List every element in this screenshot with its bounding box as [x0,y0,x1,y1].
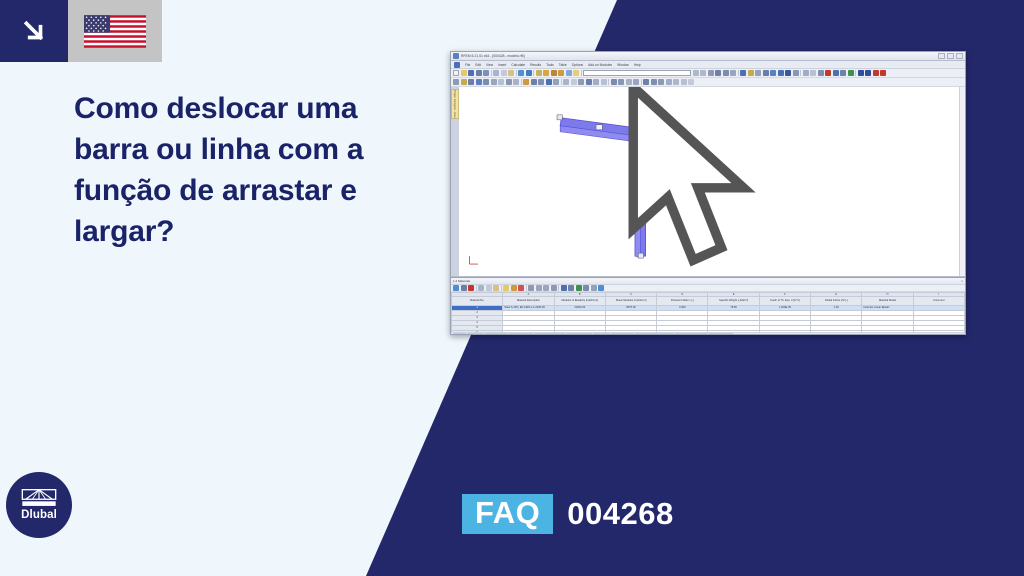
arrow-badge [0,0,68,62]
toolbar-separator [558,285,559,291]
check-icon[interactable] [848,70,854,76]
header-poisson[interactable]: Poisson's Ratio ν [-] [657,296,708,305]
window-titlebar: RFEM 5.21.01 x64 - [000428 - modelo.rf5] [451,52,965,61]
save-icon[interactable] [468,70,474,76]
export-icon[interactable] [576,285,582,291]
work-area: Project Navigator - Data [451,87,965,277]
view-side-icon[interactable] [643,79,649,85]
tab-sets-of-members[interactable]: Sets of Members [708,333,733,335]
dlubal-logo-text: Dlubal [21,510,57,522]
tab-member-nonlinearities[interactable]: Member Nonlinearities [675,333,707,335]
materials-table: A B C D E F G H I Material No. Mat [451,292,965,333]
load-case-combo[interactable] [583,70,691,76]
view-iso-icon[interactable] [658,79,664,85]
navigator-strip: Project Navigator - Data [451,87,459,276]
toolbar-separator [491,70,492,76]
toolbar-separator [641,79,642,85]
import-icon[interactable] [511,285,517,291]
dlubal-logo: Dlubal [6,472,72,538]
app-icon [453,53,459,59]
paste-icon[interactable] [508,70,514,76]
edit-row-icon[interactable] [461,285,467,291]
print-icon[interactable] [583,285,589,291]
copy-icon[interactable] [486,285,492,291]
rfem-application-window: RFEM 5.21.01 x64 - [000428 - modelo.rf5]… [450,51,966,335]
shaded-icon[interactable] [673,79,679,85]
us-flag-icon [84,15,146,48]
redo-icon[interactable] [526,70,532,76]
layer-icon[interactable] [601,79,607,85]
menu-options[interactable]: Options [572,63,583,67]
tab-cross-sections[interactable]: Cross-Sections [484,333,507,335]
model-canvas[interactable] [459,87,965,276]
extrude-icon[interactable] [578,79,584,85]
new-solid-icon[interactable] [491,79,497,85]
page-title: Como deslocar uma barra ou linha com a f… [74,88,414,252]
language-flag-badge [68,0,162,62]
toolbar-separator [738,70,739,76]
toolbar-separator [516,70,517,76]
open-icon[interactable] [461,70,467,76]
text-icon[interactable] [833,70,839,76]
toolbar-separator [521,79,522,85]
tab-member-hinges[interactable]: Member Hinges [509,333,533,335]
array-icon[interactable] [586,79,592,85]
new-opening-icon[interactable] [498,79,504,85]
load-icon[interactable] [840,70,846,76]
prev-icon[interactable] [536,285,542,291]
tab-nodes[interactable]: Nodes [453,333,466,335]
menu-window[interactable]: Window [617,63,629,67]
toolbar-separator [533,70,534,76]
line-icon[interactable] [763,70,769,76]
support-icon[interactable] [793,70,799,76]
results-icon[interactable] [551,70,557,76]
solid-icon[interactable] [785,70,791,76]
undo-icon[interactable] [518,70,524,76]
truss-icon [20,488,58,508]
arrow-down-right-icon [21,18,47,44]
new-load-icon[interactable] [523,79,529,85]
group-icon[interactable] [593,79,599,85]
member-icon[interactable] [770,70,776,76]
result-diagram-icon[interactable] [858,70,864,76]
new-row-icon[interactable] [453,285,459,291]
deformation-icon[interactable] [873,70,879,76]
transparent-icon[interactable] [681,79,687,85]
dimension-icon[interactable] [818,70,824,76]
close-button[interactable] [956,53,963,59]
cut-icon[interactable] [493,70,499,76]
node-icon[interactable] [755,70,761,76]
new-surface-icon[interactable] [483,79,489,85]
rotate-objects-icon[interactable] [538,79,544,85]
menu-addons[interactable]: Add-on Modules [588,63,612,67]
paste-icon[interactable] [493,285,499,291]
animate-icon[interactable] [626,79,632,85]
header-partial[interactable]: Partial Factor γM [-] [811,296,862,305]
menu-tools[interactable]: Tools [546,63,554,67]
toolbar-separator [855,70,856,76]
new-member-icon[interactable] [476,79,482,85]
connect-icon[interactable] [571,79,577,85]
faq-slide: Como deslocar uma barra ou linha com a f… [0,0,1024,576]
toolbar-separator [476,285,477,291]
drag-cursor-icon [459,87,965,276]
last-icon[interactable] [551,285,557,291]
deselect-icon[interactable] [748,70,754,76]
grid-icon[interactable] [573,70,579,76]
snap-icon[interactable] [810,70,816,76]
help-icon[interactable] [598,285,604,291]
faq-badge: FAQ [462,494,553,534]
render-icon[interactable] [558,70,564,76]
menu-edit[interactable]: Edit [475,63,481,67]
filter-icon[interactable] [561,285,567,291]
tab-member-eccentricities[interactable]: Member Eccentricities [534,333,565,335]
copy-mirror-icon[interactable] [531,79,537,85]
tab-member-foundations[interactable]: Member Elastic Foundations [635,333,674,335]
header-thermal[interactable]: Coeff. of Th. Exp. α [1/°C] [759,296,810,305]
pan-icon[interactable] [715,70,721,76]
zoom-in-icon[interactable] [693,70,699,76]
header-description[interactable]: Material Description [503,296,554,305]
surface-icon[interactable] [778,70,784,76]
table-tabs: Nodes Materials Cross-Sections Member Hi… [451,332,965,335]
next-icon[interactable] [543,285,549,291]
divide-icon[interactable] [563,79,569,85]
table-toolbar [451,285,965,292]
maximize-button[interactable] [947,53,954,59]
menu-help[interactable]: Help [634,63,641,67]
stress-icon[interactable] [880,70,886,76]
tab-materials[interactable]: Materials [467,333,484,335]
header-comment[interactable]: Comment [913,296,964,305]
header-modulus[interactable]: Modulus of Elasticity E [kN/cm²] [554,296,605,305]
first-icon[interactable] [528,285,534,291]
delete-icon[interactable] [825,70,831,76]
toolbar-separator [501,285,502,291]
header-model[interactable]: Material Model [862,296,913,305]
menu-insert[interactable]: Insert [498,63,506,67]
cut-icon[interactable] [478,285,484,291]
toolbar-separator [526,285,527,291]
document-icon [454,62,460,68]
view-front-icon[interactable] [730,70,736,76]
tab-members[interactable]: Members [593,333,609,335]
delete-row-icon[interactable] [468,285,474,291]
minimize-button[interactable] [938,53,945,59]
toolbar-separator [561,79,562,85]
menu-bar: File Edit View Insert Calculate Results … [451,61,965,69]
select-icon[interactable] [740,70,746,76]
library-icon[interactable] [503,285,509,291]
view-top-icon[interactable] [651,79,657,85]
window-title: RFEM 5.21.01 x64 - [000428 - modelo.rf5] [461,54,936,58]
window-controls [938,53,963,59]
materials-grid[interactable]: A B C D E F G H I Material No. Mat [451,292,965,333]
menu-calculate[interactable]: Calculate [511,63,525,67]
filter-icon[interactable] [611,79,617,85]
main-toolbar-row-1 [451,69,965,78]
scale-objects-icon[interactable] [553,79,559,85]
section-icon[interactable] [618,79,624,85]
help-icon[interactable] [688,79,694,85]
table-panel-title: 1.2 Materials [453,279,470,283]
canvas-vertical-scrollbar[interactable] [959,87,965,276]
calculate-icon[interactable] [543,70,549,76]
tab-nodal-supports[interactable]: Nodal Supports [611,333,635,335]
header-weight[interactable]: Specific Weight γ [kN/m³] [708,296,759,305]
new-node-icon[interactable] [461,79,467,85]
toolbar-separator [800,70,801,76]
zoom-window-icon[interactable] [708,70,714,76]
print-report-icon[interactable] [633,79,639,85]
copy-icon[interactable] [501,70,507,76]
color-icon[interactable] [518,285,524,291]
regenerate-icon[interactable] [536,70,542,76]
tab-member-divisions[interactable]: Member Divisions [566,333,592,335]
menu-table[interactable]: Table [559,63,567,67]
wireframe-icon[interactable] [666,79,672,85]
table-panel: 1.2 Materials × [451,277,965,335]
new-hinge-icon[interactable] [513,79,519,85]
print-preview-icon[interactable] [483,70,489,76]
visibility-icon[interactable] [566,70,572,76]
sort-icon[interactable] [568,285,574,291]
result-values-icon[interactable] [865,70,871,76]
header-material-no[interactable]: Material No. [452,296,503,305]
rotate-icon[interactable] [723,70,729,76]
faq-number: 004268 [567,496,673,532]
menu-results[interactable]: Results [530,63,541,67]
project-navigator-tab[interactable]: Project Navigator - Data [451,89,459,119]
menu-view[interactable]: View [486,63,493,67]
new-support-icon[interactable] [506,79,512,85]
zoom-out-icon[interactable] [700,70,706,76]
print-icon[interactable] [476,70,482,76]
header-shear-modulus[interactable]: Shear Modulus G [kN/cm²] [605,296,656,305]
faq-footer: FAQ 004268 [462,494,674,534]
select-objects-icon[interactable] [453,79,459,85]
table-header-row: Material No. Material Description Modulu… [452,296,965,305]
main-toolbar-row-2 [451,78,965,87]
materials-table-body: 1 Steel S 235 | EN 1993-1-1:2005-05 2100… [452,305,965,332]
toolbar-separator [581,70,582,76]
settings-icon[interactable] [591,285,597,291]
new-icon[interactable] [453,70,459,76]
new-line-icon[interactable] [468,79,474,85]
table-panel-close[interactable]: × [961,279,963,283]
measure-icon[interactable] [803,70,809,76]
menu-file[interactable]: File [465,63,470,67]
move-objects-icon[interactable] [546,79,552,85]
toolbar-separator [608,79,609,85]
